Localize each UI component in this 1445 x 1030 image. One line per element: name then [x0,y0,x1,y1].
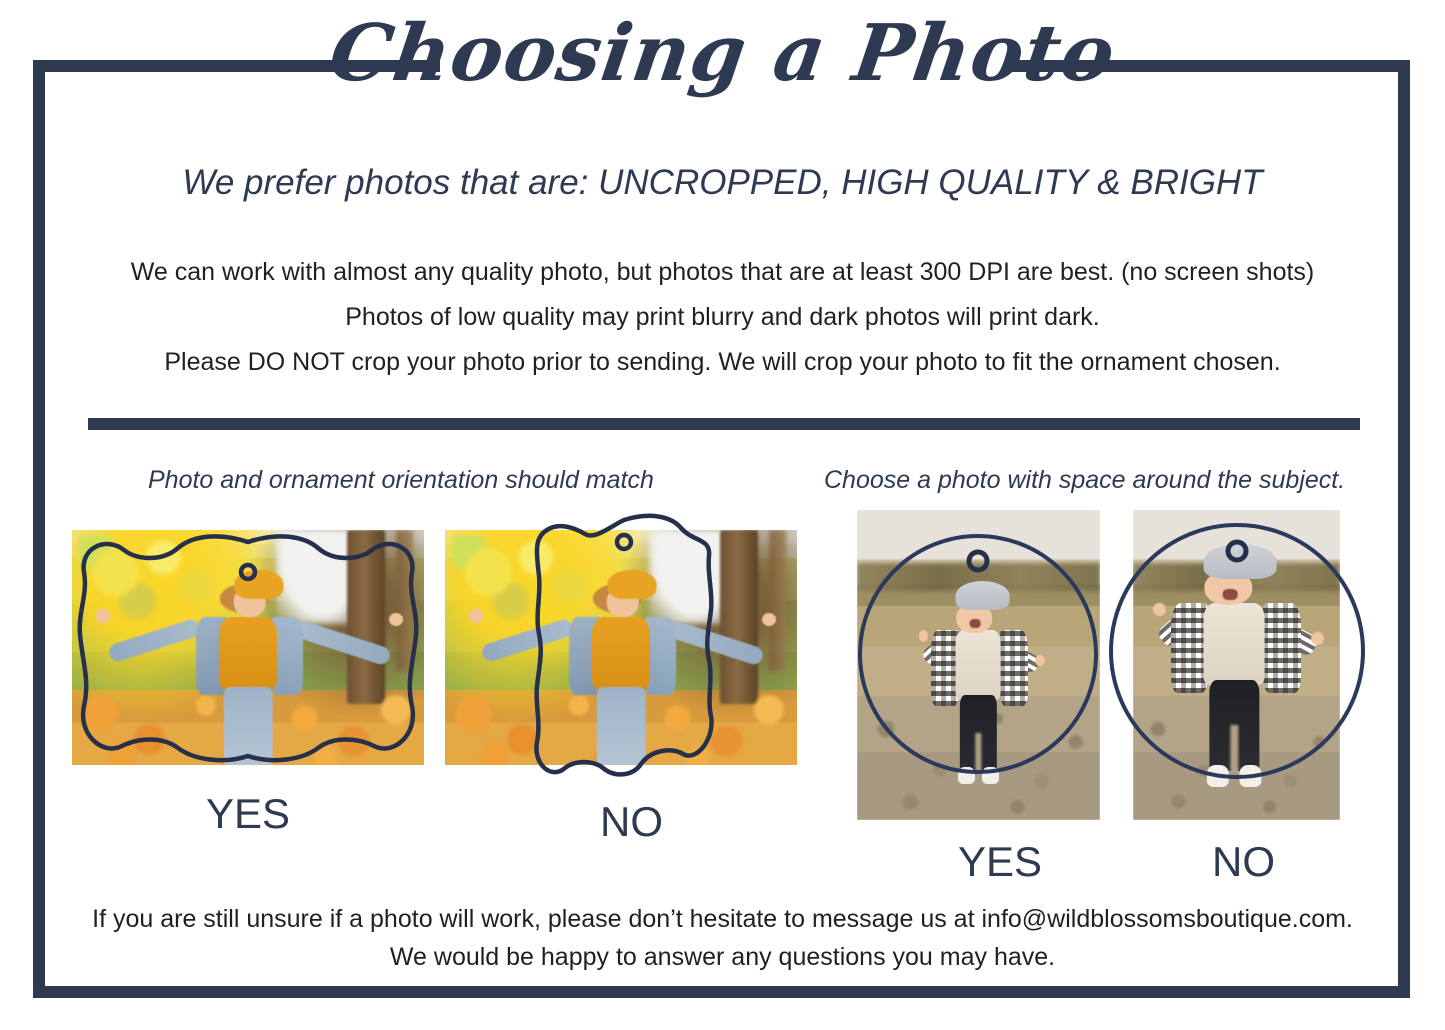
autumn-photo-landscape [72,530,424,765]
child-right-hand [389,613,404,627]
outro-line-1: If you are still unsure if a photo will … [50,900,1395,938]
intro-paragraph: We can work with almost any quality phot… [50,250,1395,385]
child-left-hand [96,609,111,623]
cream-top [956,630,1001,699]
example-photo-right-yes [857,510,1100,820]
mustard-shirt [592,617,650,691]
child-jeans [224,687,273,765]
intro-line-1: We can work with almost any quality phot… [50,250,1395,295]
mustard-hat [607,570,656,599]
grey-beanie [956,581,1009,610]
toddler-mouth [1223,589,1237,600]
plaid-shirt-right [1000,630,1028,706]
autumn-scene-2 [445,530,797,765]
toddler-left-hand [1153,603,1166,616]
left-sneaker [1207,765,1229,786]
right-sneaker [1240,765,1262,786]
toddler-left-hand [919,630,929,641]
right-section-caption: Choose a photo with space around the sub… [824,466,1345,495]
verdict-right-no: NO [1212,838,1275,886]
example-photo-right-no [1133,510,1340,820]
autumn-photo-landscape-2 [445,530,797,765]
verdict-left-yes: YES [206,790,290,838]
toddler-right-hand [1035,655,1045,666]
tree-trunk [720,530,759,704]
page-title: Choosing a Photo [0,6,1445,102]
verdict-right-yes: YES [958,838,1042,886]
toddler-subject [925,581,1032,804]
intro-line-2: Photos of low quality may print blurry a… [50,295,1395,340]
verdict-left-no: NO [600,798,663,846]
field-photo-cropped [1133,510,1340,820]
outro-line-2: We would be happy to answer any question… [50,938,1395,976]
headline: We prefer photos that are: UNCROPPED, HI… [0,160,1445,206]
left-sneaker [958,767,974,785]
leg-gap [1231,725,1238,773]
child-jeans [597,687,646,765]
field-photo-wide [857,510,1100,820]
mustard-shirt [219,617,277,691]
leg-gap [976,733,981,773]
toddler-subject-cropped [1162,544,1307,811]
plaid-shirt-right [1263,603,1301,694]
child-right-hand [762,613,777,627]
right-sneaker [982,767,998,785]
intro-line-3: Please DO NOT crop your photo prior to s… [50,340,1395,385]
tree-trunk [347,530,386,704]
section-divider [88,418,1360,430]
example-photo-left-no [445,530,797,765]
example-photo-left-yes [72,530,424,765]
plaid-shirt-left [1171,603,1209,694]
tree-trunk-secondary [396,530,414,671]
toddler-mouth [970,619,981,628]
child-subject [167,570,329,765]
mustard-hat [234,570,283,599]
child-left-hand [469,609,484,623]
tree-trunk-secondary [769,530,787,671]
cream-top [1204,603,1265,686]
left-section-caption: Photo and ornament orientation should ma… [148,466,654,495]
autumn-scene [72,530,424,765]
grey-beanie [1204,544,1276,579]
outro-paragraph: If you are still unsure if a photo will … [50,900,1395,976]
child-subject [540,570,702,765]
